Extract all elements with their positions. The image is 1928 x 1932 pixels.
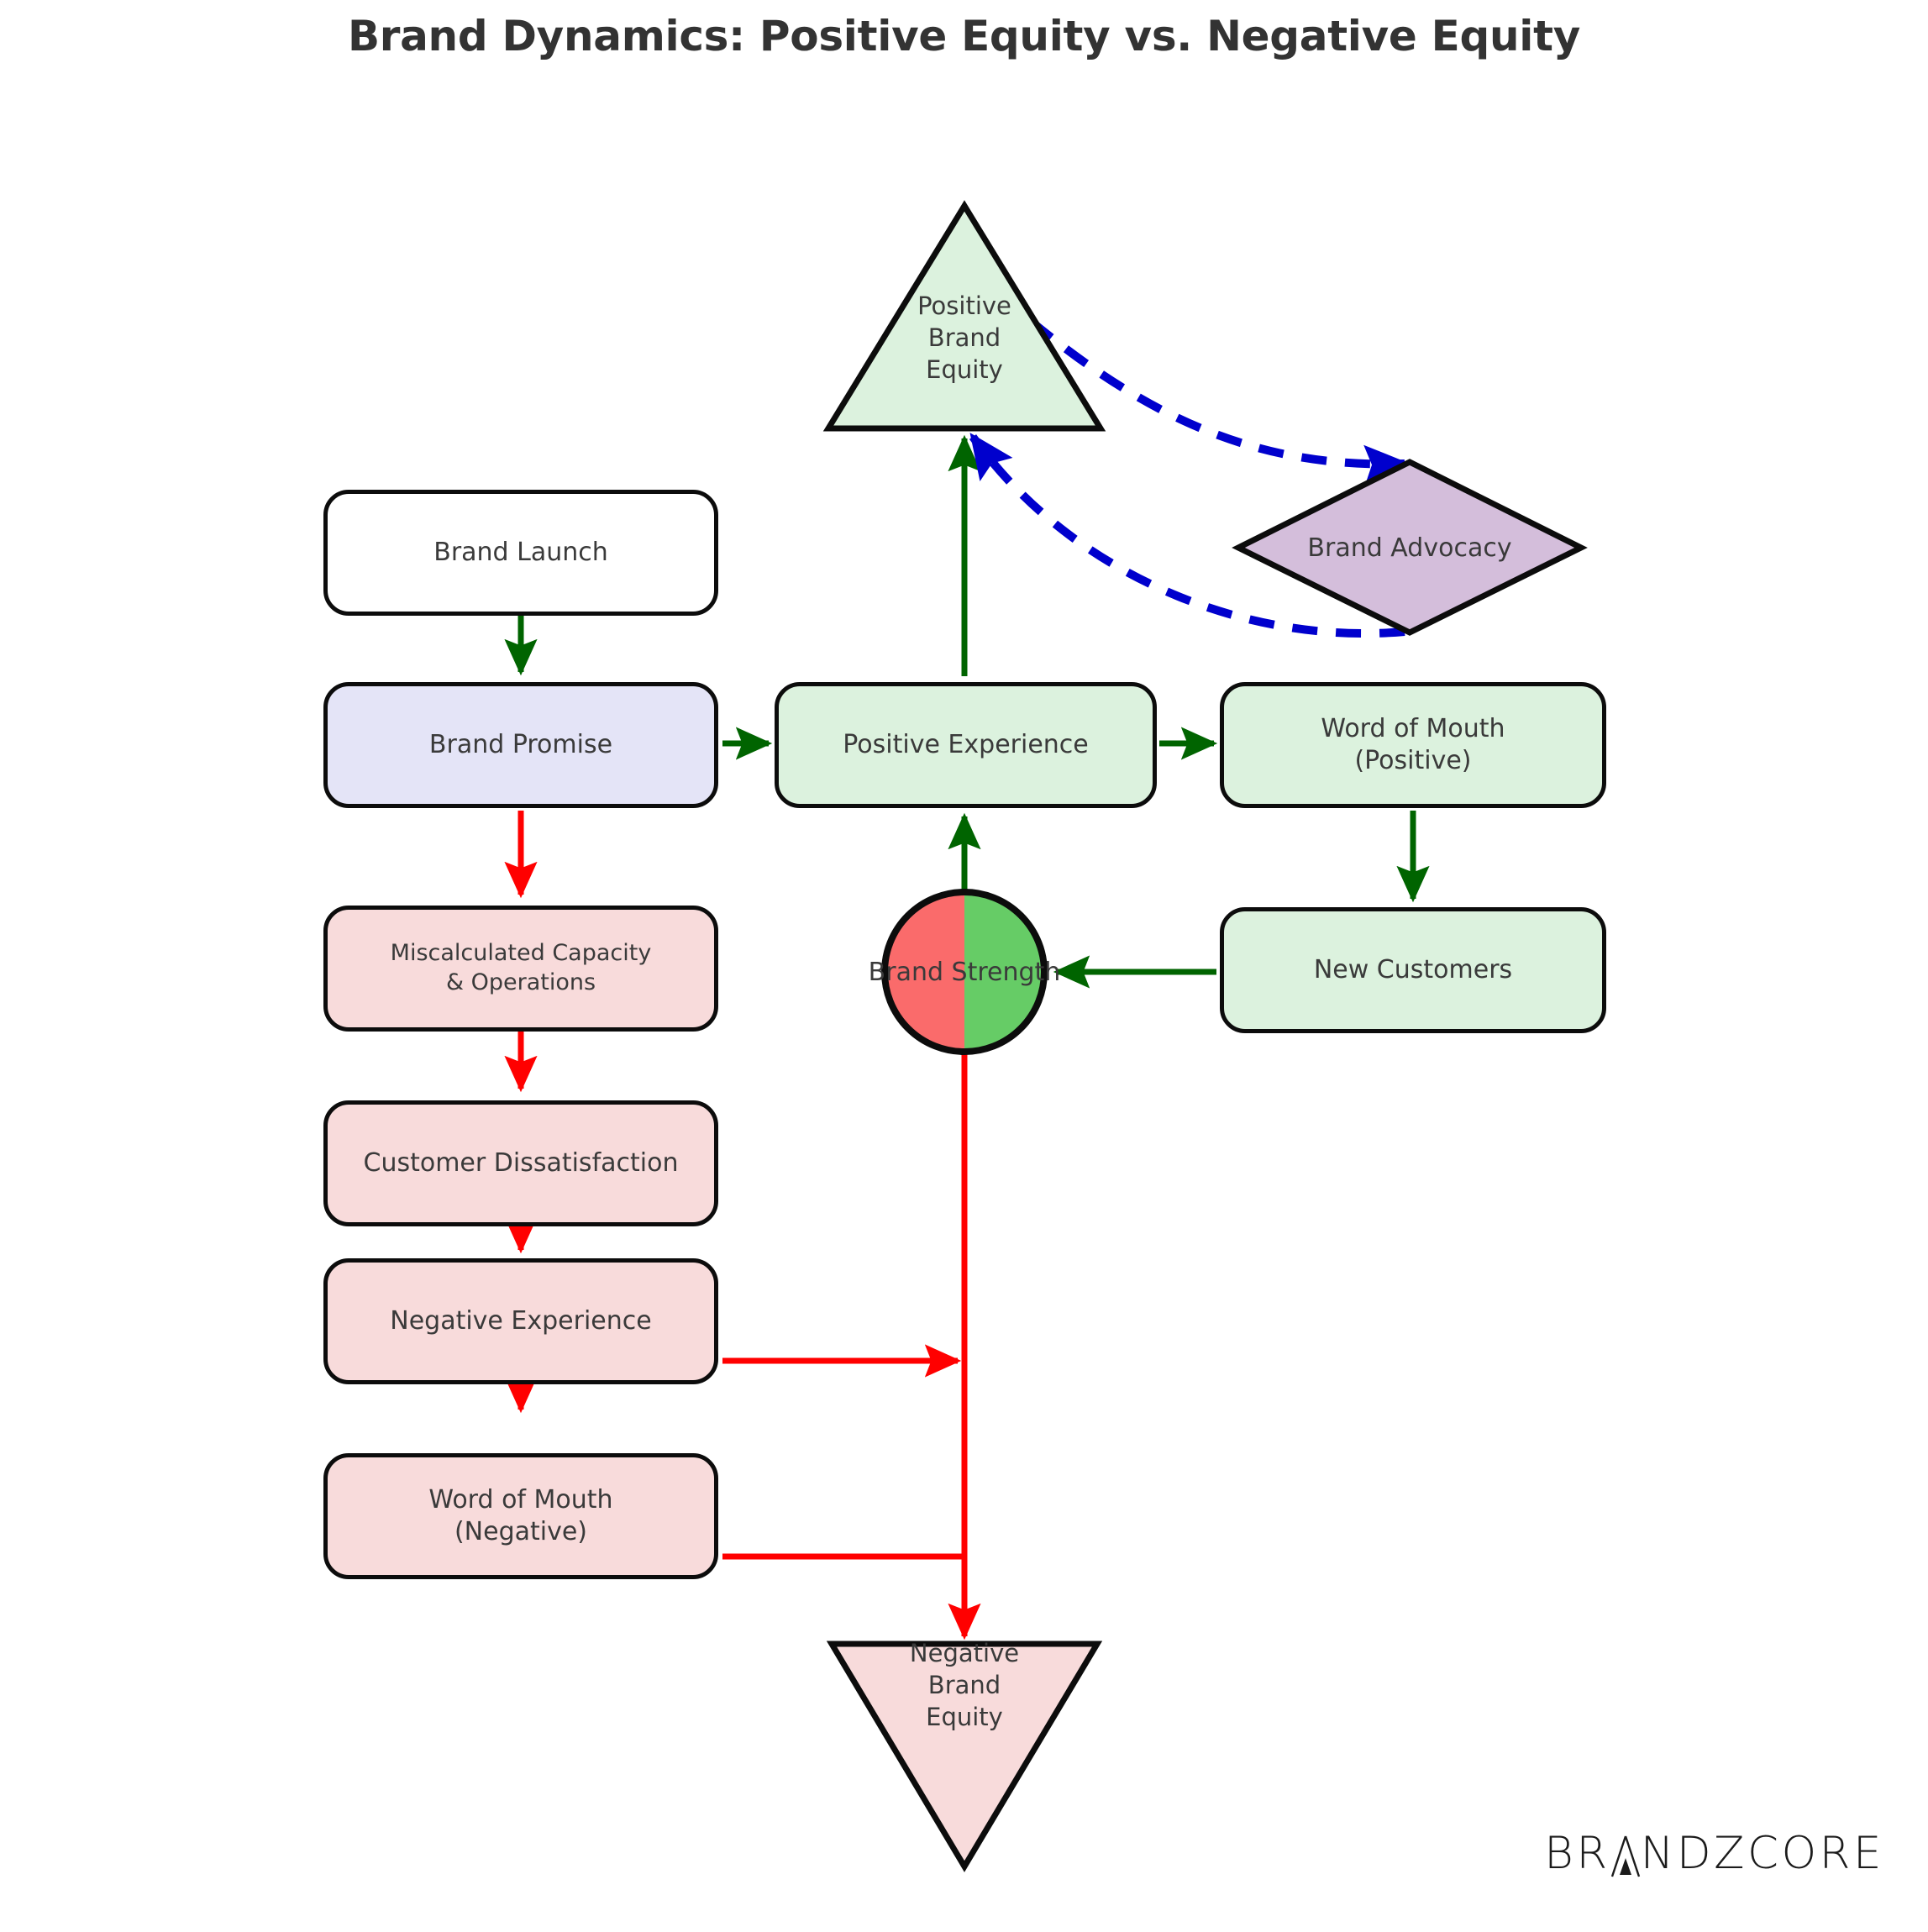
- node-brand-launch[interactable]: Brand Launch: [323, 490, 718, 616]
- node-miscalculated-capacity[interactable]: Miscalculated Capacity & Operations: [323, 906, 718, 1032]
- node-positive-experience-label: Positive Experience: [843, 729, 1089, 761]
- node-negative-experience[interactable]: Negative Experience: [323, 1258, 718, 1384]
- node-word-of-mouth-negative[interactable]: Word of Mouth (Negative): [323, 1453, 718, 1579]
- negative-brand-equity-label: Negative Brand Equity: [864, 1648, 1065, 1724]
- diagram-canvas: Brand Dynamics: Positive Equity vs. Nega…: [0, 0, 1928, 1932]
- node-word-of-mouth-negative-label: Word of Mouth (Negative): [428, 1484, 612, 1549]
- negative-brand-equity-shape[interactable]: [832, 1644, 1097, 1866]
- node-customer-dissatisfaction[interactable]: Customer Dissatisfaction: [323, 1100, 718, 1226]
- node-new-customers[interactable]: New Customers: [1220, 907, 1606, 1033]
- node-negative-experience-label: Negative Experience: [390, 1305, 651, 1337]
- node-miscalculated-capacity-label: Miscalculated Capacity & Operations: [391, 939, 652, 997]
- node-customer-dissatisfaction-label: Customer Dissatisfaction: [364, 1147, 679, 1179]
- brand-strength-label: Brand Strength: [830, 953, 1099, 991]
- edge-positive-brand-equity-to-brand-advocacy: [1032, 322, 1405, 464]
- brandzcore-logo: BR NDZCORE: [1544, 1828, 1884, 1879]
- edge-brand-advocacy-to-positive-brand-equity: [973, 437, 1405, 633]
- positive-brand-equity-shape[interactable]: [828, 206, 1101, 428]
- node-brand-launch-label: Brand Launch: [433, 537, 608, 569]
- node-word-of-mouth-positive[interactable]: Word of Mouth (Positive): [1220, 682, 1606, 808]
- node-brand-promise[interactable]: Brand Promise: [323, 682, 718, 808]
- positive-brand-equity-label: Positive Brand Equity: [864, 301, 1065, 376]
- node-word-of-mouth-positive-label: Word of Mouth (Positive): [1321, 713, 1505, 778]
- logo-text-part1: BR: [1544, 1828, 1610, 1879]
- node-positive-experience[interactable]: Positive Experience: [775, 682, 1157, 808]
- brand-advocacy-shape[interactable]: [1238, 462, 1581, 633]
- node-new-customers-label: New Customers: [1314, 954, 1512, 986]
- brand-advocacy-label: Brand Advocacy: [1284, 528, 1536, 568]
- node-brand-promise-label: Brand Promise: [429, 729, 612, 761]
- page-title: Brand Dynamics: Positive Equity vs. Nega…: [0, 12, 1928, 60]
- logo-text-part2: NDZCORE: [1641, 1828, 1884, 1879]
- logo-mountain-a-icon: [1610, 1835, 1641, 1879]
- edge-layer: [0, 0, 1928, 1932]
- brand-strength-shape[interactable]: [885, 892, 1044, 1052]
